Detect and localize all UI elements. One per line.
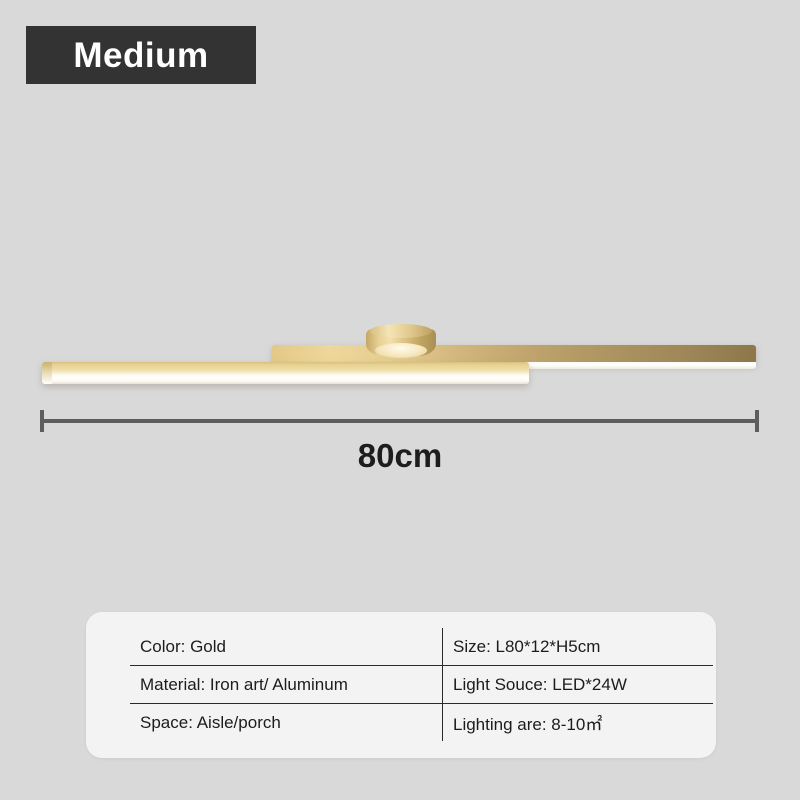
- dimension-tick-right: [755, 410, 759, 432]
- canopy-top: [370, 324, 432, 338]
- size-badge-label: Medium: [73, 38, 208, 73]
- canopy-inner-disc: [375, 343, 427, 358]
- spec-material: Material: Iron art/ Aluminum: [130, 666, 443, 704]
- spec-light-source: Light Souce: LED*24W: [443, 666, 714, 704]
- table-row: Color: Gold Size: L80*12*H5cm: [130, 628, 713, 666]
- specification-table: Color: Gold Size: L80*12*H5cm Material: …: [130, 628, 713, 741]
- size-badge: Medium: [26, 26, 256, 84]
- spec-space: Space: Aisle/porch: [130, 704, 443, 742]
- table-row: Material: Iron art/ Aluminum Light Souce…: [130, 666, 713, 704]
- table-row: Space: Aisle/porch Lighting are: 8-10㎡: [130, 704, 713, 742]
- lamp-ceiling-canopy: [366, 323, 436, 357]
- spec-color: Color: Gold: [130, 628, 443, 666]
- lamp-bar-lower: [42, 362, 529, 384]
- dimension-label: 80cm: [0, 437, 800, 475]
- dimension-tick-left: [40, 410, 44, 432]
- spec-lighting-area: Lighting are: 8-10㎡: [443, 704, 714, 742]
- spec-size: Size: L80*12*H5cm: [443, 628, 714, 666]
- dimension-line: [40, 419, 759, 423]
- lamp-bar-lower-end-cap: [42, 362, 52, 384]
- specification-card: Color: Gold Size: L80*12*H5cm Material: …: [86, 612, 716, 758]
- lamp-product-illustration: [0, 300, 800, 410]
